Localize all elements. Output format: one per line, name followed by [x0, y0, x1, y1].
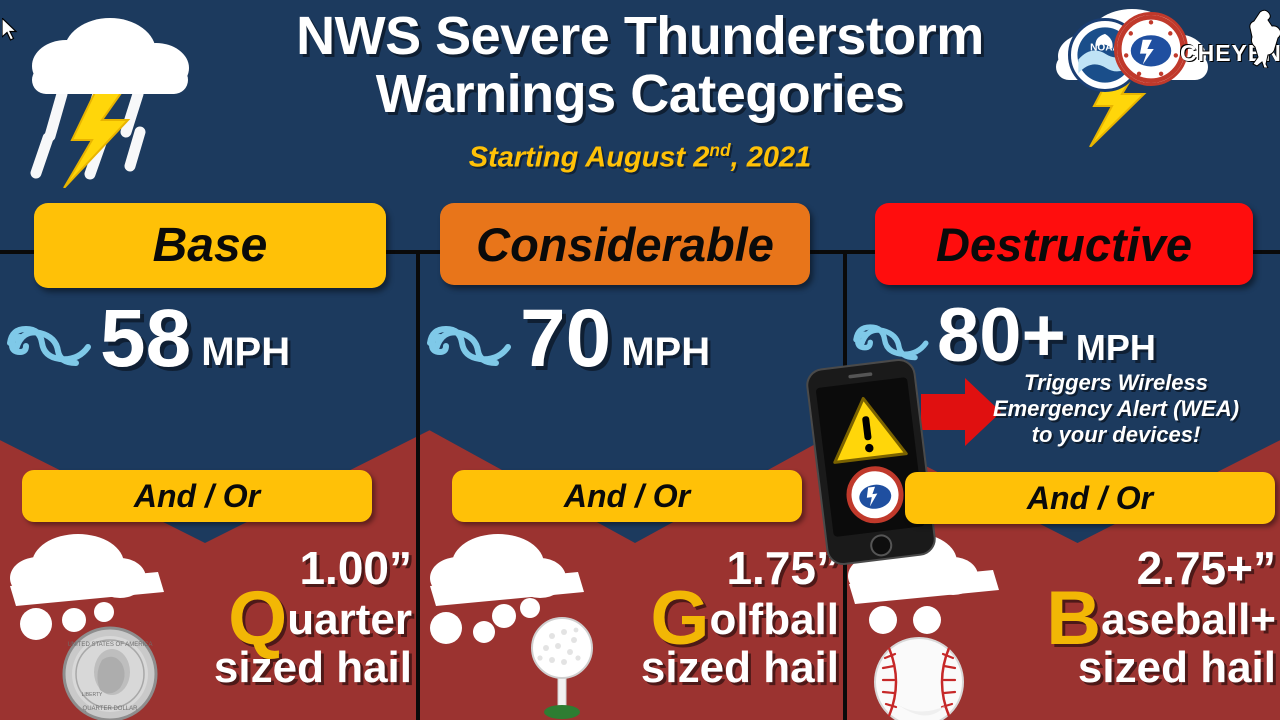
hail-name-considerable: Golfball — [549, 589, 839, 650]
wind-speed-unit-considerable: MPH — [621, 332, 710, 380]
category-badge-considerable[interactable]: Considerable — [440, 203, 810, 285]
cloud-with-lightning-and-rain-icon — [10, 8, 210, 188]
title-line-2: Warnings Categories — [210, 66, 1070, 124]
hail-row-considerable: 1.75” Golfball sized hail — [420, 528, 843, 720]
and-or-pill-destructive: And / Or — [905, 472, 1275, 524]
subtitle-ordinal: nd — [709, 140, 730, 160]
category-column-considerable: Considerable 70 MPH — [420, 250, 843, 425]
hail-sub-destructive: sized hail — [986, 646, 1276, 691]
hail-text-base: 1.00” Quarter sized hail — [144, 546, 412, 691]
national-weather-service-seal-icon — [1114, 12, 1188, 86]
wind-speed-unit-destructive: MPH — [1076, 330, 1156, 374]
wind-swirl-icon — [420, 303, 516, 375]
category-badge-base[interactable]: Base — [34, 203, 386, 288]
wind-speed-value-destructive: 80+ — [937, 298, 1066, 374]
wea-line-2: Emergency Alert (WEA) — [955, 396, 1277, 422]
wea-line-3: to your devices! — [955, 422, 1277, 448]
hail-text-considerable: 1.75” Golfball sized hail — [549, 546, 839, 691]
mouse-cursor-icon — [2, 18, 20, 44]
effective-date-subtitle: Starting August 2nd, 2021 — [210, 140, 1070, 175]
hail-name-rest-destructive: aseball+ — [1101, 595, 1276, 644]
hail-name-rest-base: uarter — [287, 595, 412, 644]
header-banner: NWS Severe Thunderstorm Warnings Categor… — [0, 0, 1280, 195]
wind-swirl-icon — [0, 303, 96, 375]
category-badge-destructive[interactable]: Destructive — [875, 203, 1253, 285]
subtitle-suffix: , 2021 — [731, 142, 812, 174]
wind-speed-value-considerable: 70 — [520, 298, 611, 380]
svg-text:UNITED STATES OF AMERICA: UNITED STATES OF AMERICA — [67, 642, 152, 648]
wind-speed-value-base: 58 — [100, 298, 191, 380]
page-title: NWS Severe Thunderstorm Warnings Categor… — [210, 8, 1070, 124]
wind-threshold-base: 58 MPH — [0, 298, 416, 380]
wind-threshold-considerable: 70 MPH — [420, 298, 843, 380]
baseball-icon — [871, 634, 967, 720]
bucking-horse-icon — [1248, 6, 1280, 68]
hail-name-base: Quarter — [144, 589, 412, 650]
wea-callout-text: Triggers Wireless Emergency Alert (WEA) … — [955, 370, 1277, 448]
subtitle-prefix: Starting August 2 — [469, 142, 710, 174]
infographic-canvas: NWS Severe Thunderstorm Warnings Categor… — [0, 0, 1280, 720]
and-or-pill-base: And / Or — [22, 470, 372, 522]
wea-line-1: Triggers Wireless — [955, 370, 1277, 396]
wind-speed-unit-base: MPH — [201, 332, 290, 380]
category-column-base: Base 58 MPH — [0, 250, 416, 425]
and-or-pill-considerable: And / Or — [452, 470, 802, 522]
hail-row-base: UNITED STATES OF AMERICA QUARTER DOLLAR … — [0, 528, 416, 720]
hail-sub-base: sized hail — [144, 646, 412, 691]
title-line-1: NWS Severe Thunderstorm — [210, 8, 1070, 66]
hail-sub-considerable: sized hail — [549, 646, 839, 691]
hail-size-destructive: 2.75+” — [986, 546, 1276, 591]
hail-name-rest-considerable: olfball — [709, 595, 839, 644]
nws-office-logo-block: NOAA CHEYENNE — [1062, 4, 1280, 114]
svg-text:LIBERTY: LIBERTY — [82, 692, 103, 698]
hail-name-destructive: Baseball+ — [986, 589, 1276, 650]
hail-text-destructive: 2.75+” Baseball+ sized hail — [986, 546, 1276, 691]
svg-text:QUARTER DOLLAR: QUARTER DOLLAR — [83, 706, 139, 712]
